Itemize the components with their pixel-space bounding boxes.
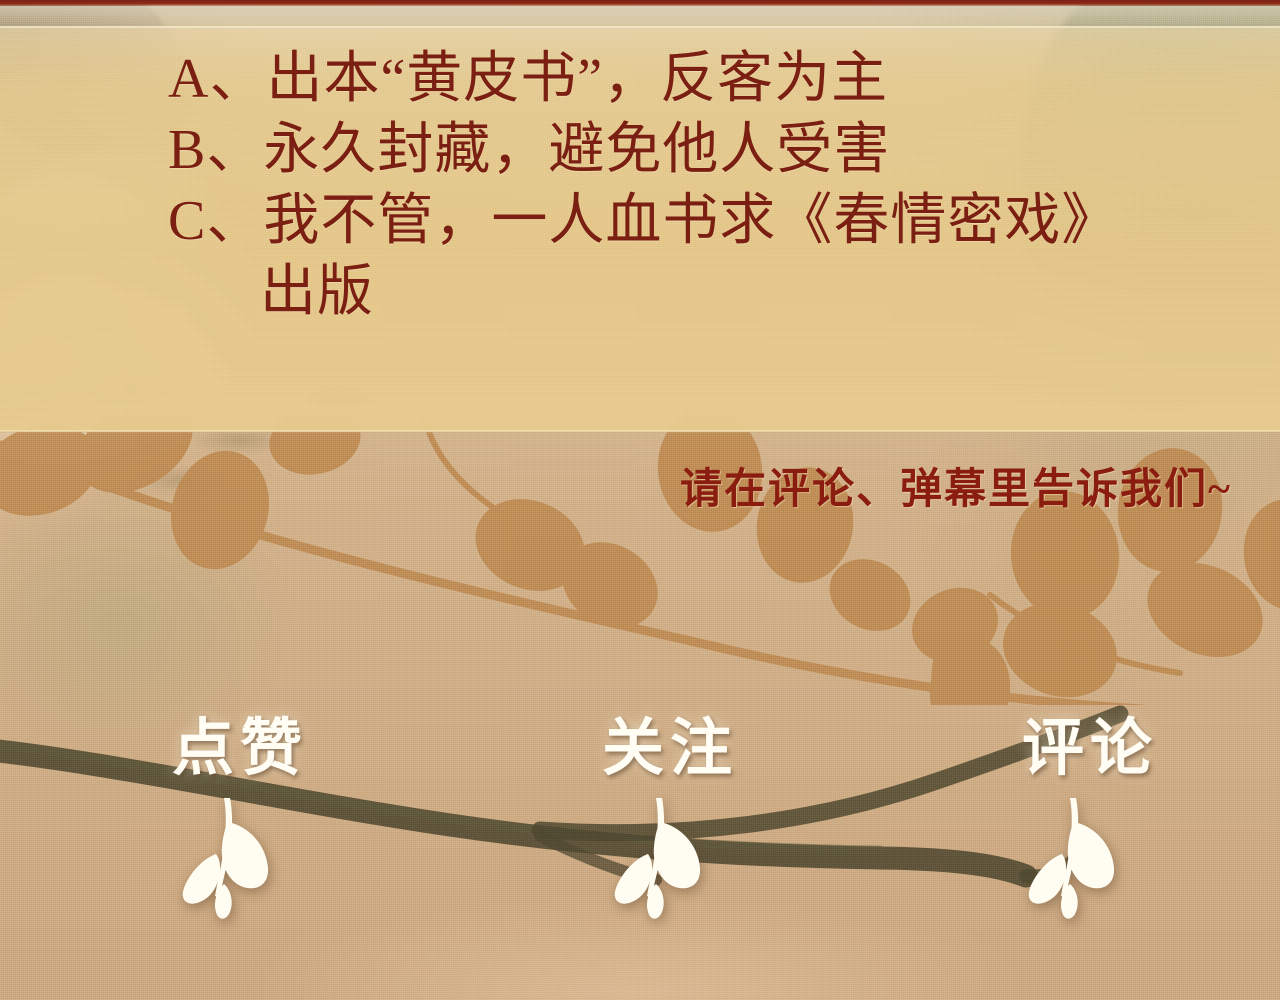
slide-canvas: A、出本“黄皮书”，反客为主 B、永久封藏，避免他人受害 C、我不管，一人血书求… (0, 0, 1280, 1000)
action-like[interactable]: 点赞 (110, 712, 370, 924)
poll-option-c-continuation: 出版 (168, 257, 1128, 328)
poll-option-a-text: 出本“黄皮书”，反客为主 (266, 48, 888, 110)
action-follow[interactable]: 关注 (540, 712, 800, 924)
poll-options: A、出本“黄皮书”，反客为主 B、永久封藏，避免他人受害 C、我不管，一人血书求… (168, 44, 1128, 328)
poll-option-b-key: B、 (168, 119, 263, 181)
leaf-sprig-icon (168, 792, 288, 924)
poll-option-c-key: C、 (168, 190, 263, 252)
leaf-sprig-icon (1014, 792, 1134, 924)
action-row: 点赞 关注 评论 (0, 712, 1280, 1000)
poll-option-b[interactable]: B、永久封藏，避免他人受害 (168, 115, 1128, 186)
poll-option-a[interactable]: A、出本“黄皮书”，反客为主 (168, 44, 1128, 115)
poll-option-b-text: 永久封藏，避免他人受害 (263, 119, 890, 181)
action-comment-label: 评论 (960, 712, 1220, 786)
action-follow-label: 关注 (540, 712, 800, 786)
poll-option-a-key: A、 (168, 48, 266, 110)
panel-divider (0, 430, 1280, 433)
call-to-action-text: 请在评论、弹幕里告诉我们~ (0, 455, 1232, 516)
action-like-label: 点赞 (110, 712, 370, 786)
top-haze-overlay (0, 6, 1280, 32)
poll-option-c[interactable]: C、我不管，一人血书求《春情密戏》出版 (168, 186, 1128, 328)
leaf-sprig-icon (600, 792, 720, 924)
top-accent-bar (0, 0, 1280, 6)
action-comment[interactable]: 评论 (960, 712, 1220, 924)
poll-option-c-text: 我不管，一人血书求《春情密戏》 (263, 190, 1118, 252)
